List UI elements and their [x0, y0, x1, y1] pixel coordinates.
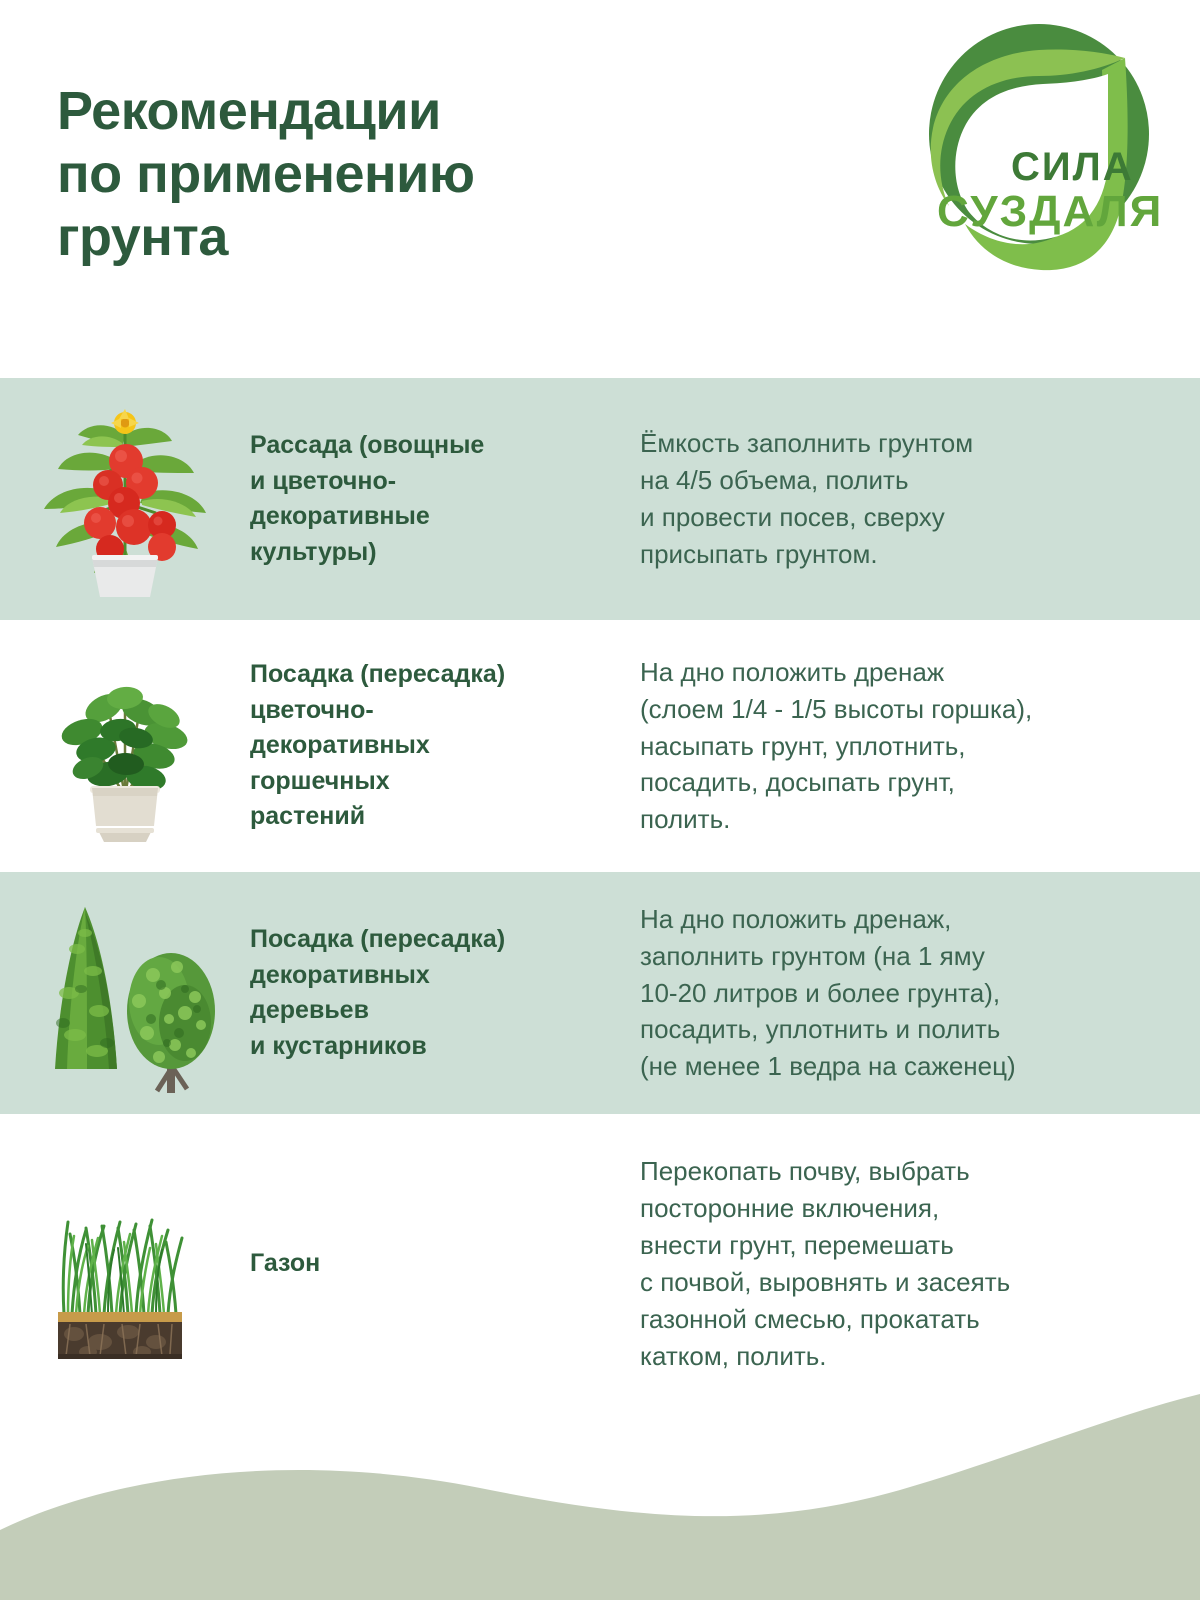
thuja-conifer: [55, 907, 117, 1069]
row-title: Посадка (пересадка) декоративных деревье…: [250, 922, 640, 1064]
header: Рекомендации по применению грунта СИЛА С…: [0, 0, 1200, 378]
lawn-sod-image: [0, 1164, 250, 1364]
row-description: Ёмкость заполнить грунтом на 4/5 объема,…: [640, 425, 1200, 573]
row-description: На дно положить дренаж, заполнить грунто…: [640, 901, 1200, 1086]
row-title: Посадка (пересадка) цветочно- декоративн…: [250, 657, 640, 835]
logo-line2: СУЗДАЛЯ: [937, 187, 1161, 236]
logo-line1: СИЛА: [1011, 145, 1134, 189]
row-description: Перекопать почву, выбрать посторонние вк…: [640, 1153, 1200, 1374]
page-title: Рекомендации по применению грунта: [57, 80, 697, 270]
decorative-trees-image: [0, 893, 250, 1093]
bottom-wave-decoration: [0, 1380, 1200, 1600]
table-row: Рассада (овощные и цветочно- декоративны…: [0, 378, 1200, 620]
infographic-page: Рекомендации по применению грунта СИЛА С…: [0, 0, 1200, 1600]
row-description: На дно положить дренаж (слоем 1/4 - 1/5 …: [640, 654, 1200, 839]
deciduous-tree: [127, 953, 215, 1093]
row-title: Газон: [250, 1246, 640, 1282]
potted-houseplant-image: [0, 646, 250, 846]
table-row: Газон Перекопать почву, выбрать посторон…: [0, 1114, 1200, 1414]
sila-suzdalya-logo: СИЛА СУЗДАЛЯ: [893, 18, 1161, 280]
table-row: Посадка (пересадка) цветочно- декоративн…: [0, 620, 1200, 872]
table-row: Посадка (пересадка) декоративных деревье…: [0, 872, 1200, 1114]
row-title: Рассада (овощные и цветочно- декоративны…: [250, 428, 640, 570]
tomato-seedling-image: [0, 399, 250, 599]
